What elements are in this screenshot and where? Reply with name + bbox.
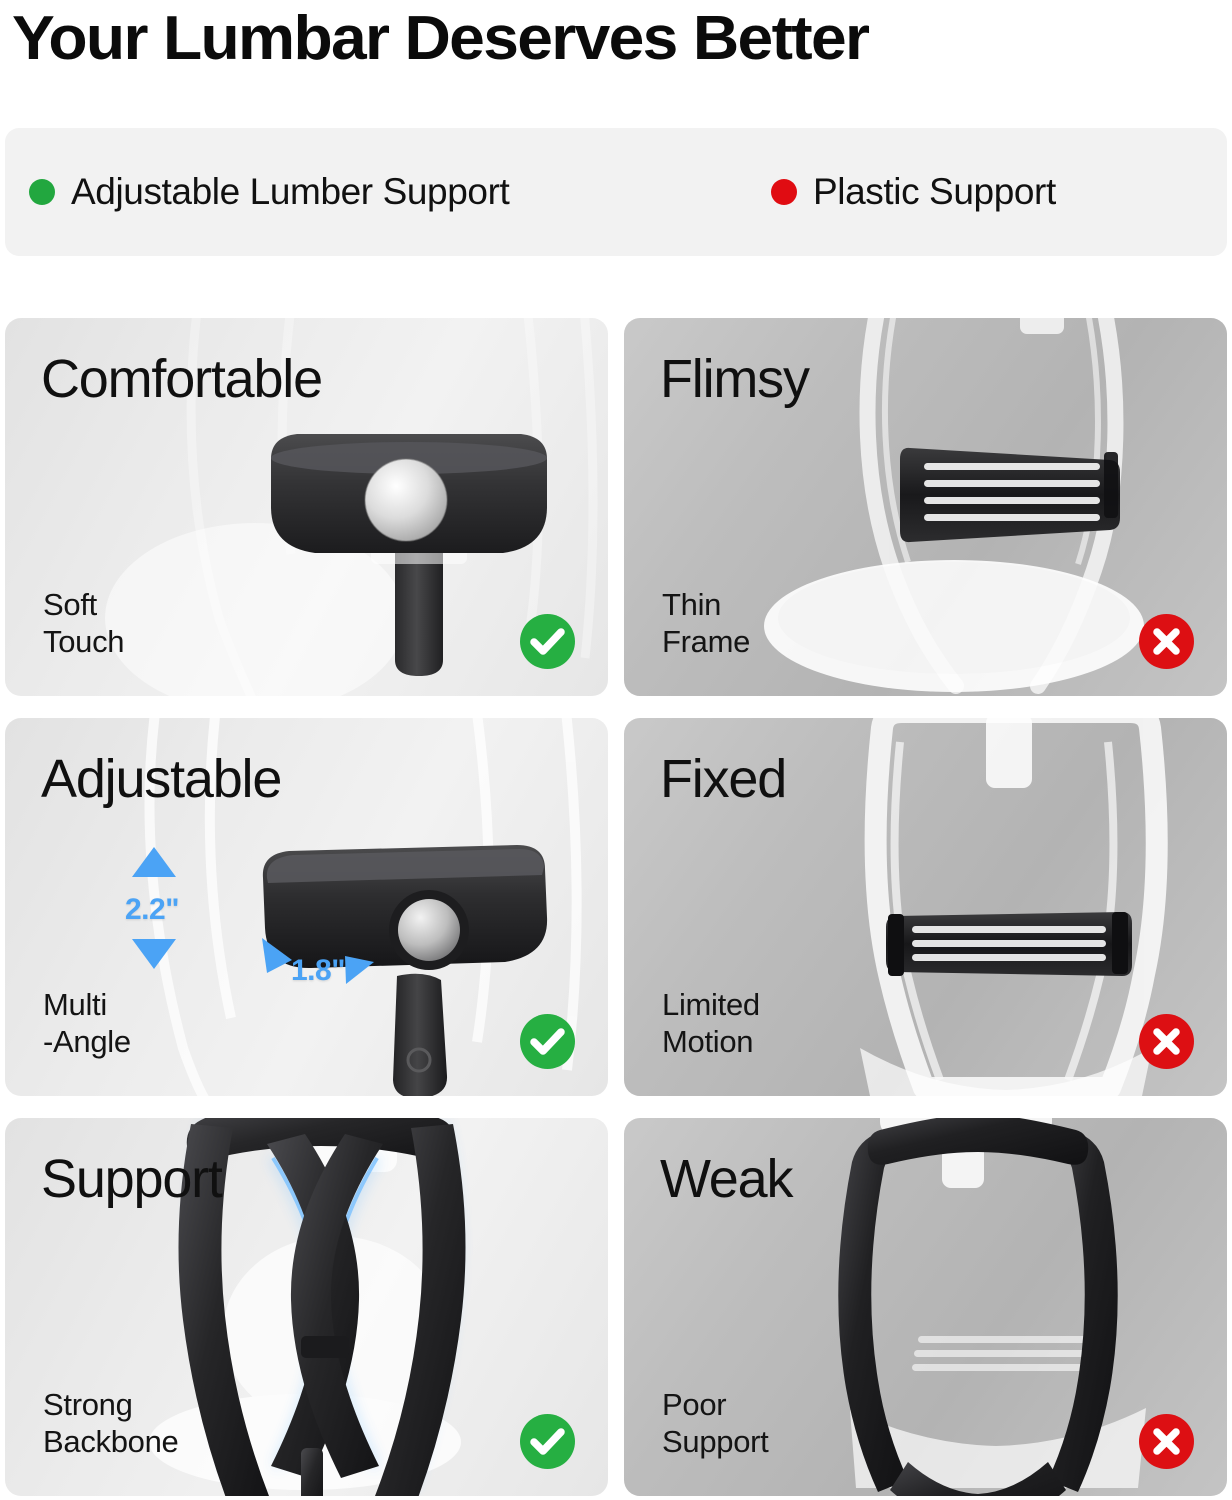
red-dot-icon — [771, 179, 797, 205]
arrow-left-icon — [261, 930, 293, 974]
measurement-vertical: 2.2" — [125, 893, 179, 927]
arrow-down-icon — [131, 938, 177, 970]
card-title: Weak — [660, 1148, 792, 1210]
legend-item-label: Plastic Support — [813, 171, 1056, 213]
legend-bar: Adjustable Lumber Support Plastic Suppor… — [5, 128, 1227, 256]
arrow-up-icon — [131, 846, 177, 878]
legend-item-label: Adjustable Lumber Support — [71, 171, 509, 213]
legend-item-adjustable-lumber-support: Adjustable Lumber Support — [29, 171, 509, 213]
comparison-card-weak: Weak Poor Support — [624, 1118, 1227, 1496]
card-title: Fixed — [660, 748, 786, 810]
check-circle-icon — [520, 1414, 575, 1469]
arrow-right-icon — [343, 952, 375, 996]
check-circle-icon — [520, 614, 575, 669]
comparison-card-fixed: Fixed Limited Motion — [624, 718, 1227, 1096]
card-caption: Poor Support — [662, 1386, 768, 1460]
measurement-horizontal: 1.8" — [291, 954, 345, 988]
card-caption: Limited Motion — [662, 986, 760, 1060]
comparison-card-support: Support Strong Backbone — [5, 1118, 608, 1496]
card-title: Support — [41, 1148, 222, 1210]
page-title: Your Lumbar Deserves Better — [12, 2, 1232, 76]
check-circle-icon — [520, 1014, 575, 1069]
card-caption: Soft Touch — [43, 586, 124, 660]
x-circle-icon — [1139, 1414, 1194, 1469]
green-dot-icon — [29, 179, 55, 205]
card-title: Flimsy — [660, 348, 809, 410]
card-caption: Strong Backbone — [43, 1386, 178, 1460]
card-title: Comfortable — [41, 348, 322, 410]
x-circle-icon — [1139, 1014, 1194, 1069]
comparison-grid: Comfortable Soft Touch — [5, 318, 1227, 1496]
legend-item-plastic-support: Plastic Support — [771, 171, 1056, 213]
comparison-card-flimsy: Flimsy Thin Frame — [624, 318, 1227, 696]
comparison-card-adjustable: 2.2" 1.8" Adjustable Multi -Angle — [5, 718, 608, 1096]
comparison-card-comfortable: Comfortable Soft Touch — [5, 318, 608, 696]
x-circle-icon — [1139, 614, 1194, 669]
card-caption: Thin Frame — [662, 586, 750, 660]
card-title: Adjustable — [41, 748, 281, 810]
card-caption: Multi -Angle — [43, 986, 131, 1060]
